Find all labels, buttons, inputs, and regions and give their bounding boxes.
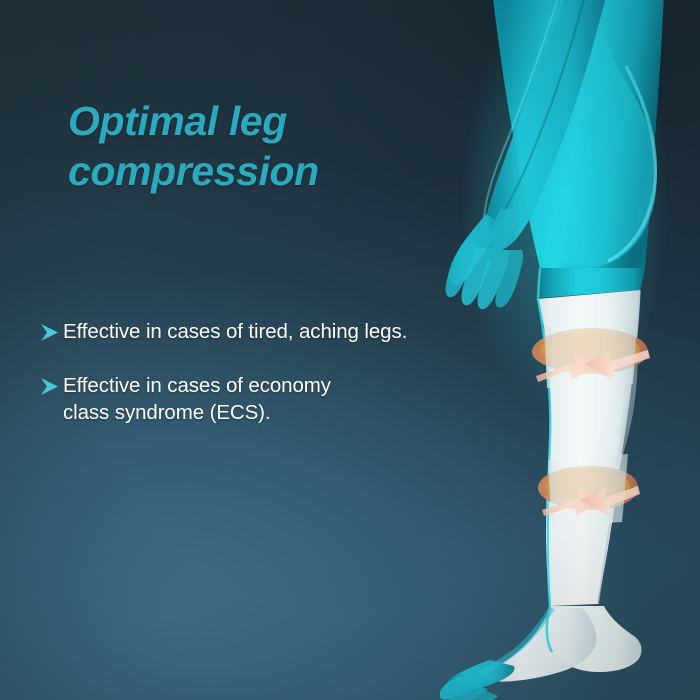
- hand-shape: [445, 208, 523, 309]
- arrow-bullet-icon: [38, 320, 63, 346]
- page-title: Optimal leg compression: [68, 96, 468, 196]
- compression-band-ankle: [538, 454, 640, 526]
- list-item-label: Effective in cases of economy class synd…: [63, 372, 331, 426]
- compression-band-knee: [532, 320, 650, 388]
- arrow-bullet-icon: [38, 374, 63, 400]
- list-item: Effective in cases of economy class synd…: [38, 372, 508, 426]
- bullet-list: Effective in cases of tired, aching legs…: [38, 318, 508, 452]
- list-item: Effective in cases of tired, aching legs…: [38, 318, 508, 346]
- slide-root: Optimal leg compression Effective in cas…: [0, 0, 700, 700]
- list-item-label: Effective in cases of tired, aching legs…: [63, 318, 407, 345]
